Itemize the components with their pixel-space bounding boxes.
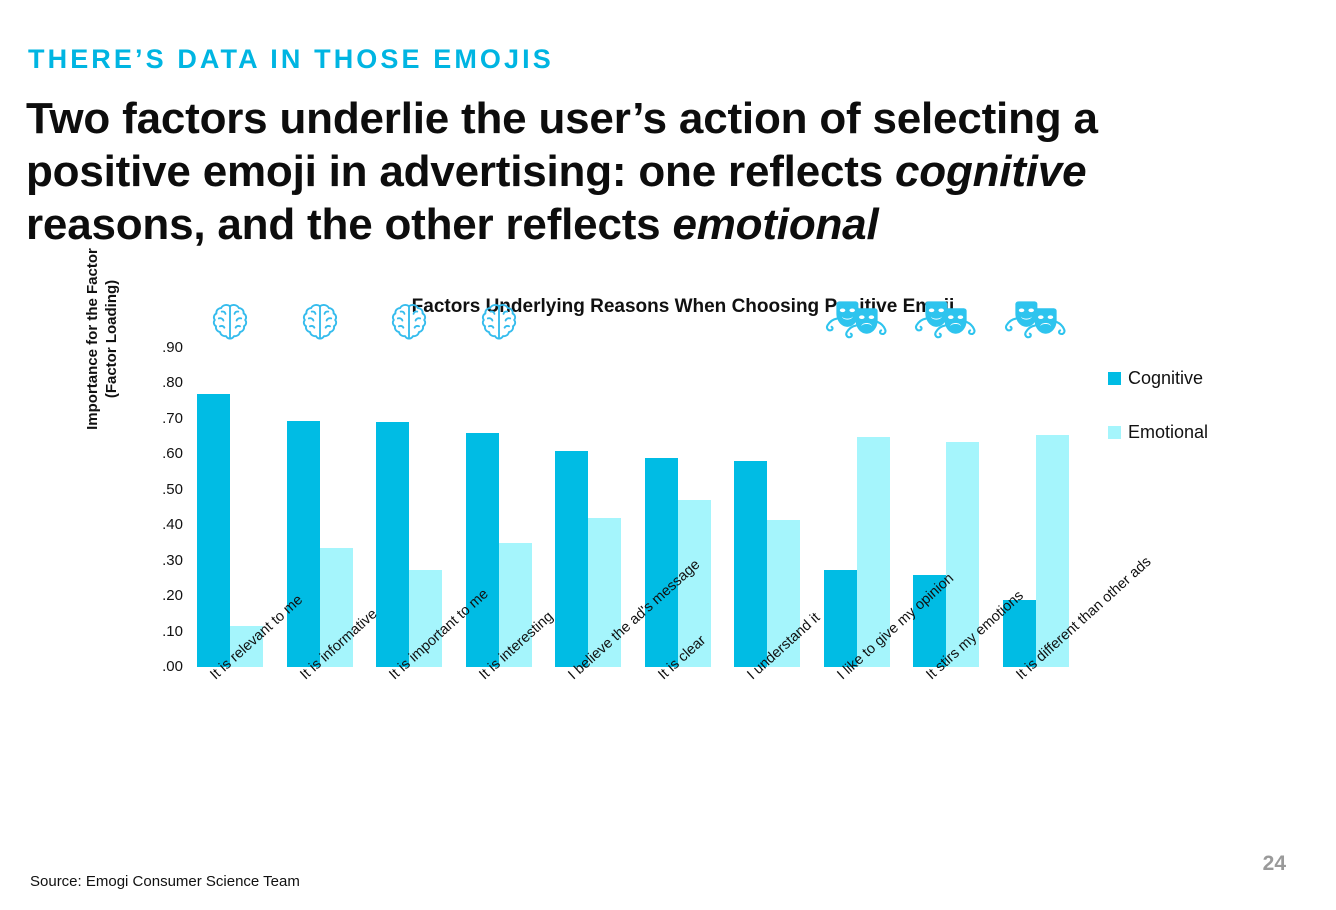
bar-pair: [1003, 348, 1069, 667]
bar-pair: [287, 348, 353, 667]
brain-icon-slot: [372, 296, 446, 348]
page-number: 24: [1263, 852, 1286, 876]
chart-legend: CognitiveEmotional: [1108, 368, 1308, 476]
icon-slot-empty: [730, 296, 804, 348]
theater-masks-icon: [1003, 299, 1069, 345]
y-axis-title-line2: (Factor Loading): [102, 224, 121, 454]
bar-group: [641, 348, 715, 667]
y-axis-ticks: .90.80.70.60.50.40.30.20.10.00: [141, 338, 183, 677]
icon-slot-empty: [551, 296, 625, 348]
theater-masks-icon: [824, 299, 890, 345]
y-axis-tick-label: .00: [141, 657, 183, 677]
brain-icon: [476, 299, 522, 345]
icon-slot-empty: [641, 296, 715, 348]
bar-cognitive[interactable]: [824, 570, 857, 667]
y-axis-tick-label: .10: [141, 622, 183, 642]
bar-group: [730, 348, 804, 667]
y-axis-tick-label: .70: [141, 409, 183, 429]
brain-icon-slot: [462, 296, 536, 348]
brain-icon-slot: [283, 296, 357, 348]
bar-group: [909, 348, 983, 667]
source-note: Source: Emogi Consumer Science Team: [30, 873, 300, 890]
bar-group: [999, 348, 1073, 667]
legend-swatch-icon: [1108, 426, 1121, 439]
y-axis-tick-label: .30: [141, 551, 183, 571]
theater-masks-icon-slot: [999, 296, 1073, 348]
bar-cognitive[interactable]: [466, 433, 499, 667]
bar-group: [372, 348, 446, 667]
headline-text-2: reasons, and the other reflects: [26, 200, 672, 249]
brain-icon: [297, 299, 343, 345]
bar-cognitive[interactable]: [555, 451, 588, 667]
brain-icon: [207, 299, 253, 345]
bar-pair: [645, 348, 711, 667]
bar-cognitive[interactable]: [376, 422, 409, 667]
bar-cognitive[interactable]: [197, 394, 230, 667]
headline-emphasis-emotional: emotional: [672, 200, 878, 249]
page-title: Two factors underlie the user’s action o…: [26, 92, 1226, 251]
bar-pair: [824, 348, 890, 667]
theater-masks-icon-slot: [820, 296, 894, 348]
legend-swatch-icon: [1108, 372, 1121, 385]
eyebrow-heading: THERE’S DATA IN THOSE EMOJIS: [28, 46, 554, 73]
brain-icon: [386, 299, 432, 345]
legend-label: Cognitive: [1128, 368, 1203, 389]
brain-icon-slot: [193, 296, 267, 348]
legend-label: Emotional: [1128, 422, 1208, 443]
y-axis-tick-label: .40: [141, 515, 183, 535]
bar-pair: [466, 348, 532, 667]
bar-group: [462, 348, 536, 667]
y-axis-tick-label: .60: [141, 444, 183, 464]
headline-emphasis-cognitive: cognitive: [895, 147, 1086, 196]
y-axis-tick-label: .50: [141, 480, 183, 500]
bar-pair: [734, 348, 800, 667]
legend-item[interactable]: Emotional: [1108, 422, 1308, 443]
theater-masks-icon-slot: [909, 296, 983, 348]
bar-cognitive[interactable]: [645, 458, 678, 667]
bar-pair: [913, 348, 979, 667]
bar-group: [283, 348, 357, 667]
y-axis-tick-label: .80: [141, 373, 183, 393]
y-axis-title: Importance for the Factor (Factor Loadin…: [83, 224, 121, 454]
bar-cognitive[interactable]: [734, 461, 767, 667]
bar-pair: [376, 348, 442, 667]
legend-item[interactable]: Cognitive: [1108, 368, 1308, 389]
bar-pair: [555, 348, 621, 667]
theater-masks-icon: [913, 299, 979, 345]
bar-group: [193, 348, 267, 667]
bar-group: [551, 348, 625, 667]
bar-group: [820, 348, 894, 667]
bar-cognitive[interactable]: [287, 421, 320, 667]
y-axis-tick-label: .90: [141, 338, 183, 358]
bar-pair: [197, 348, 263, 667]
y-axis-title-line1: Importance for the Factor: [83, 224, 102, 454]
y-axis-tick-label: .20: [141, 586, 183, 606]
